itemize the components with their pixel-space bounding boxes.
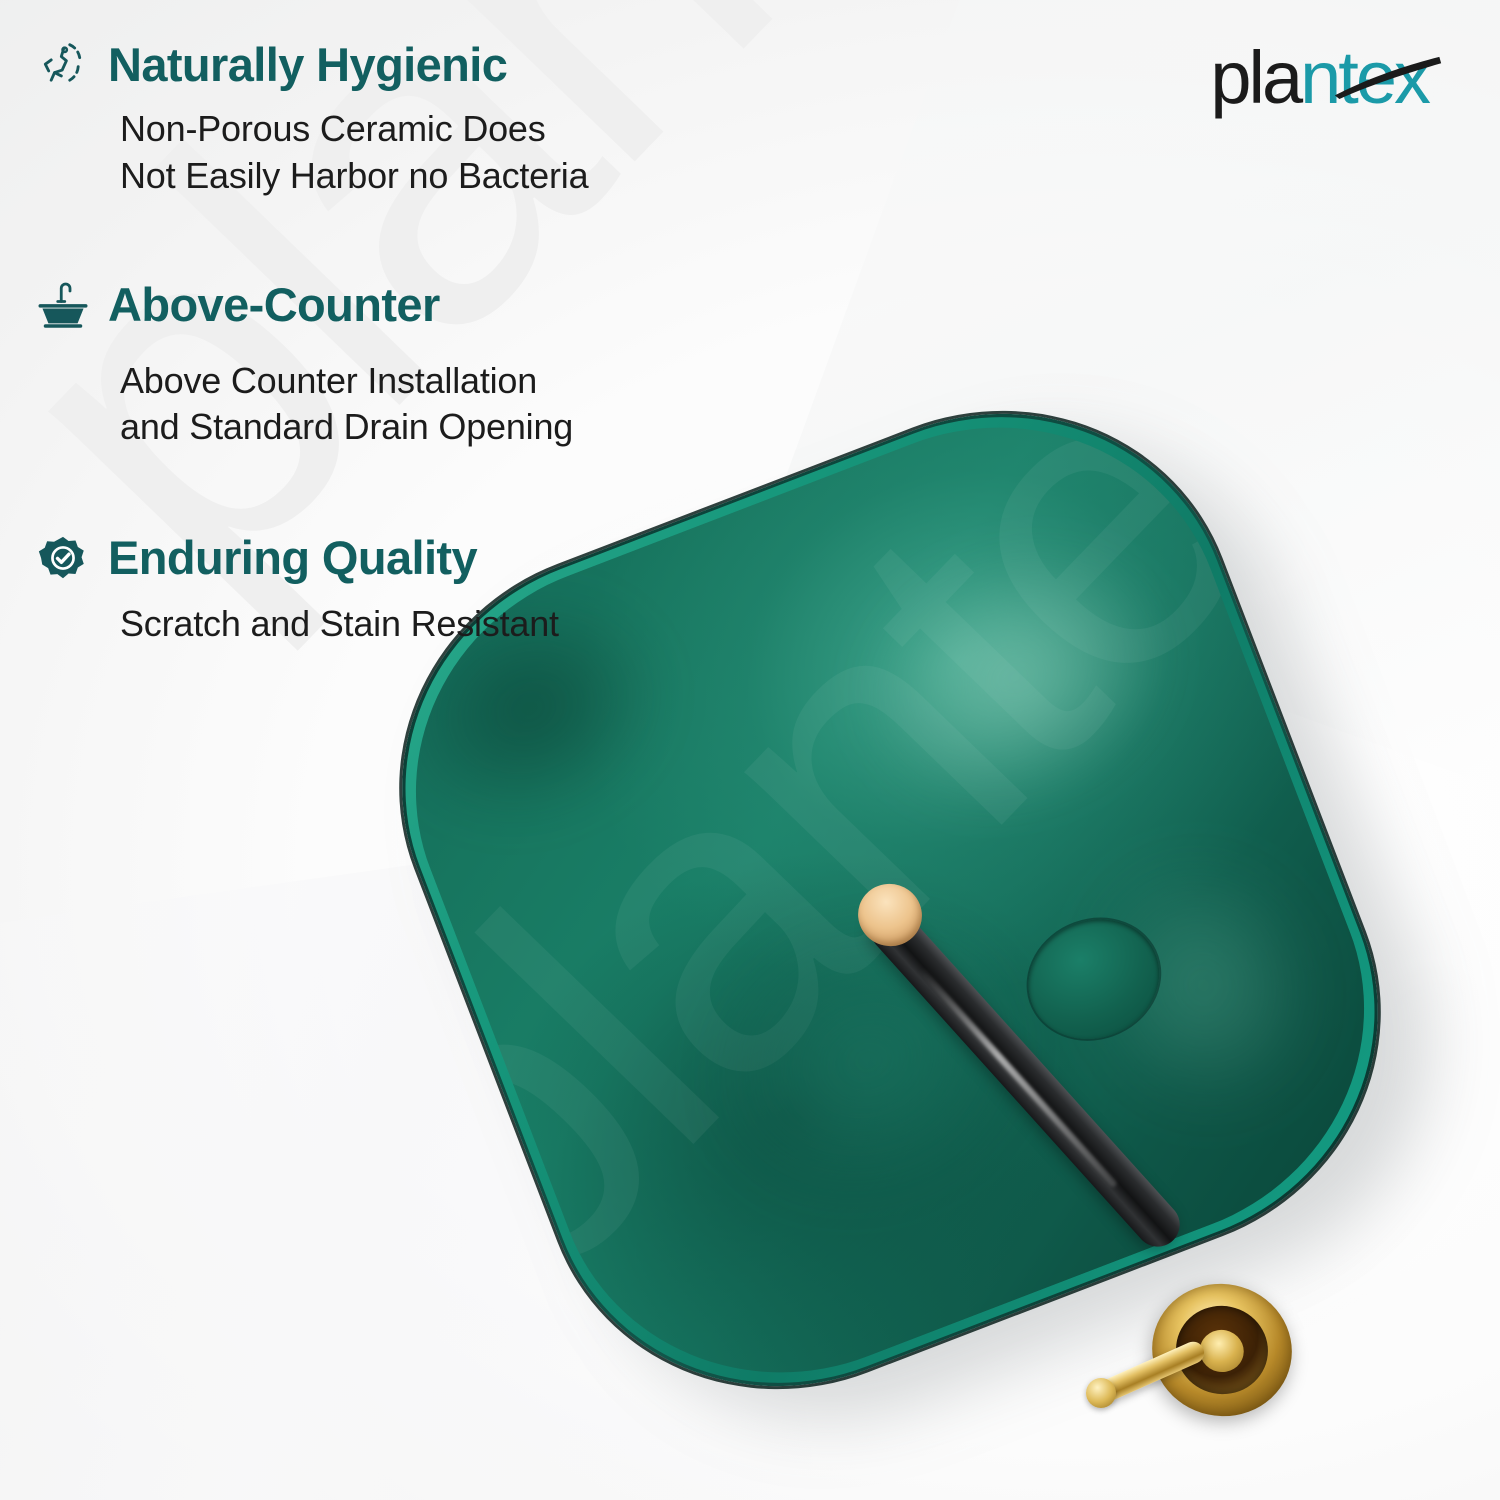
bowl-shadow-lower-left — [598, 814, 1138, 1308]
sink-faucet-icon — [34, 276, 92, 334]
feature-description-line: Scratch and Stain Resistant — [120, 601, 734, 648]
logo-segment-accent: nte — [1300, 36, 1394, 119]
background-sheen-bottom-left — [0, 821, 829, 1500]
feature-description-line: Above Counter Installation — [120, 358, 734, 405]
bowl-highlight-upper — [756, 446, 1276, 908]
feature-title: Naturally Hygienic — [108, 40, 507, 90]
feature-header: Above-Counter — [34, 276, 734, 334]
faucet-base-inner-ring — [1168, 1297, 1276, 1402]
quality-badge-check-icon — [34, 529, 92, 587]
logo-segment-dark: pla — [1210, 36, 1300, 119]
faucet-handle-knob — [1086, 1378, 1116, 1408]
feature-description: Scratch and Stain Resistant — [120, 601, 734, 648]
feature-header: Enduring Quality — [34, 529, 734, 587]
feature-description-line: Not Easily Harbor no Bacteria — [120, 153, 734, 200]
feature-title: Above-Counter — [108, 280, 440, 330]
logo-segment-x: x — [1394, 36, 1428, 119]
feature-item-naturally-hygienic: Naturally Hygienic Non-Porous Ceramic Do… — [34, 36, 734, 200]
feature-header: Naturally Hygienic — [34, 36, 734, 94]
feature-item-above-counter: Above-Counter Above Counter Installation… — [34, 276, 734, 452]
faucet-spout-highlight — [919, 967, 1119, 1187]
brand-wordmark: plantex — [1210, 41, 1428, 115]
feature-list: Naturally Hygienic Non-Porous Ceramic Do… — [34, 36, 734, 648]
bacteria-germ-icon — [34, 36, 92, 94]
feature-title: Enduring Quality — [108, 533, 477, 583]
faucet-spout — [862, 899, 1189, 1255]
faucet-base-escutcheon — [1140, 1271, 1304, 1429]
faucet-base-hub — [1196, 1326, 1248, 1376]
feature-item-enduring-quality: Enduring Quality Scratch and Stain Resis… — [34, 529, 734, 648]
infographic-canvas: plantex plantex — [0, 0, 1500, 1500]
feature-description: Above Counter Installation and Standard … — [120, 358, 734, 452]
faucet-handle-lever — [1096, 1338, 1207, 1404]
feature-description: Non-Porous Ceramic Does Not Easily Harbo… — [120, 106, 734, 200]
brand-logo: plantex — [1210, 38, 1428, 118]
drain-opening — [1023, 919, 1166, 1039]
feature-description-line: and Standard Drain Opening — [120, 404, 734, 451]
bowl-highlight-lower-right — [990, 760, 1418, 1211]
faucet-aerator-tip — [850, 876, 930, 955]
feature-description-line: Non-Porous Ceramic Does — [120, 106, 734, 153]
